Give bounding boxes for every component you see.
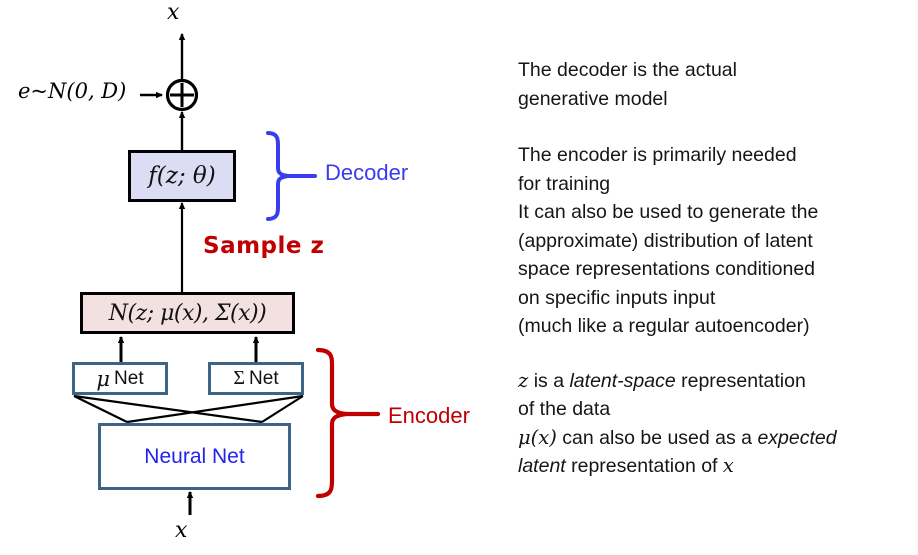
note-line-latent-of-x: latent representation of x bbox=[518, 452, 912, 481]
x-symbol: x bbox=[723, 454, 734, 477]
note-line: on specific inputs input bbox=[518, 284, 912, 313]
note-line: for training bbox=[518, 170, 912, 199]
sample-z-label: Sample z bbox=[203, 233, 324, 259]
note-line-latent-space: z is a latent-space representation bbox=[518, 367, 912, 396]
note-line: (much like a regular autoencoder) bbox=[518, 312, 912, 341]
explanatory-notes-panel: The decoder is the actual generative mod… bbox=[518, 56, 912, 481]
note-emphasis: latent-space bbox=[569, 370, 675, 392]
paragraph-spacer bbox=[518, 113, 912, 141]
latent-distribution-box[interactable]: N(z; μ(x), Σ(x)) bbox=[80, 292, 295, 334]
latent-distribution-label: N(z; μ(x), Σ(x)) bbox=[109, 301, 266, 326]
note-line: of the data bbox=[518, 395, 912, 424]
paragraph-spacer bbox=[518, 341, 912, 367]
decoder-brace bbox=[268, 133, 288, 219]
output-x-label: x bbox=[167, 0, 179, 25]
encoder-group-label: Encoder bbox=[388, 403, 470, 429]
z-symbol: z bbox=[518, 369, 528, 392]
note-fragment: representation bbox=[676, 370, 806, 392]
note-line: The decoder is the actual bbox=[518, 56, 912, 85]
neural-net-box[interactable]: Neural Net bbox=[98, 423, 291, 490]
neural-net-label: Neural Net bbox=[144, 445, 244, 469]
sigma-symbol: Σ bbox=[233, 367, 245, 390]
note-emphasis: expected bbox=[757, 427, 836, 449]
note-line-expected-latent: μ(x) can also be used as a expected bbox=[518, 424, 912, 453]
mu-net-label: Net bbox=[114, 368, 144, 390]
sigma-net-label: Net bbox=[249, 368, 279, 390]
sigma-net-box[interactable]: Σ Net bbox=[208, 362, 304, 395]
note-fragment: can also be used as a bbox=[557, 427, 758, 449]
connector-nn-left-to-sigma-net bbox=[127, 396, 303, 422]
note-line: The encoder is primarily needed bbox=[518, 141, 912, 170]
decoder-group-label: Decoder bbox=[325, 160, 408, 186]
decoder-function-label: f(z; θ) bbox=[148, 163, 215, 189]
note-line: space representations conditioned bbox=[518, 255, 912, 284]
note-fragment: is a bbox=[528, 370, 569, 392]
note-line: (approximate) distribution of latent bbox=[518, 227, 912, 256]
input-x-label: x bbox=[175, 518, 187, 543]
noise-term-label: e~N(0, D) bbox=[18, 79, 126, 103]
encoder-brace bbox=[318, 350, 346, 496]
mu-of-x-symbol: μ(x) bbox=[518, 426, 557, 449]
decoder-function-box[interactable]: f(z; θ) bbox=[128, 150, 236, 202]
note-emphasis: latent bbox=[518, 455, 566, 477]
note-line: It can also be used to generate the bbox=[518, 198, 912, 227]
note-line: generative model bbox=[518, 85, 912, 114]
mu-symbol: μ bbox=[96, 367, 110, 391]
note-fragment: representation of bbox=[566, 455, 723, 477]
mu-net-box[interactable]: μ Net bbox=[72, 362, 168, 395]
